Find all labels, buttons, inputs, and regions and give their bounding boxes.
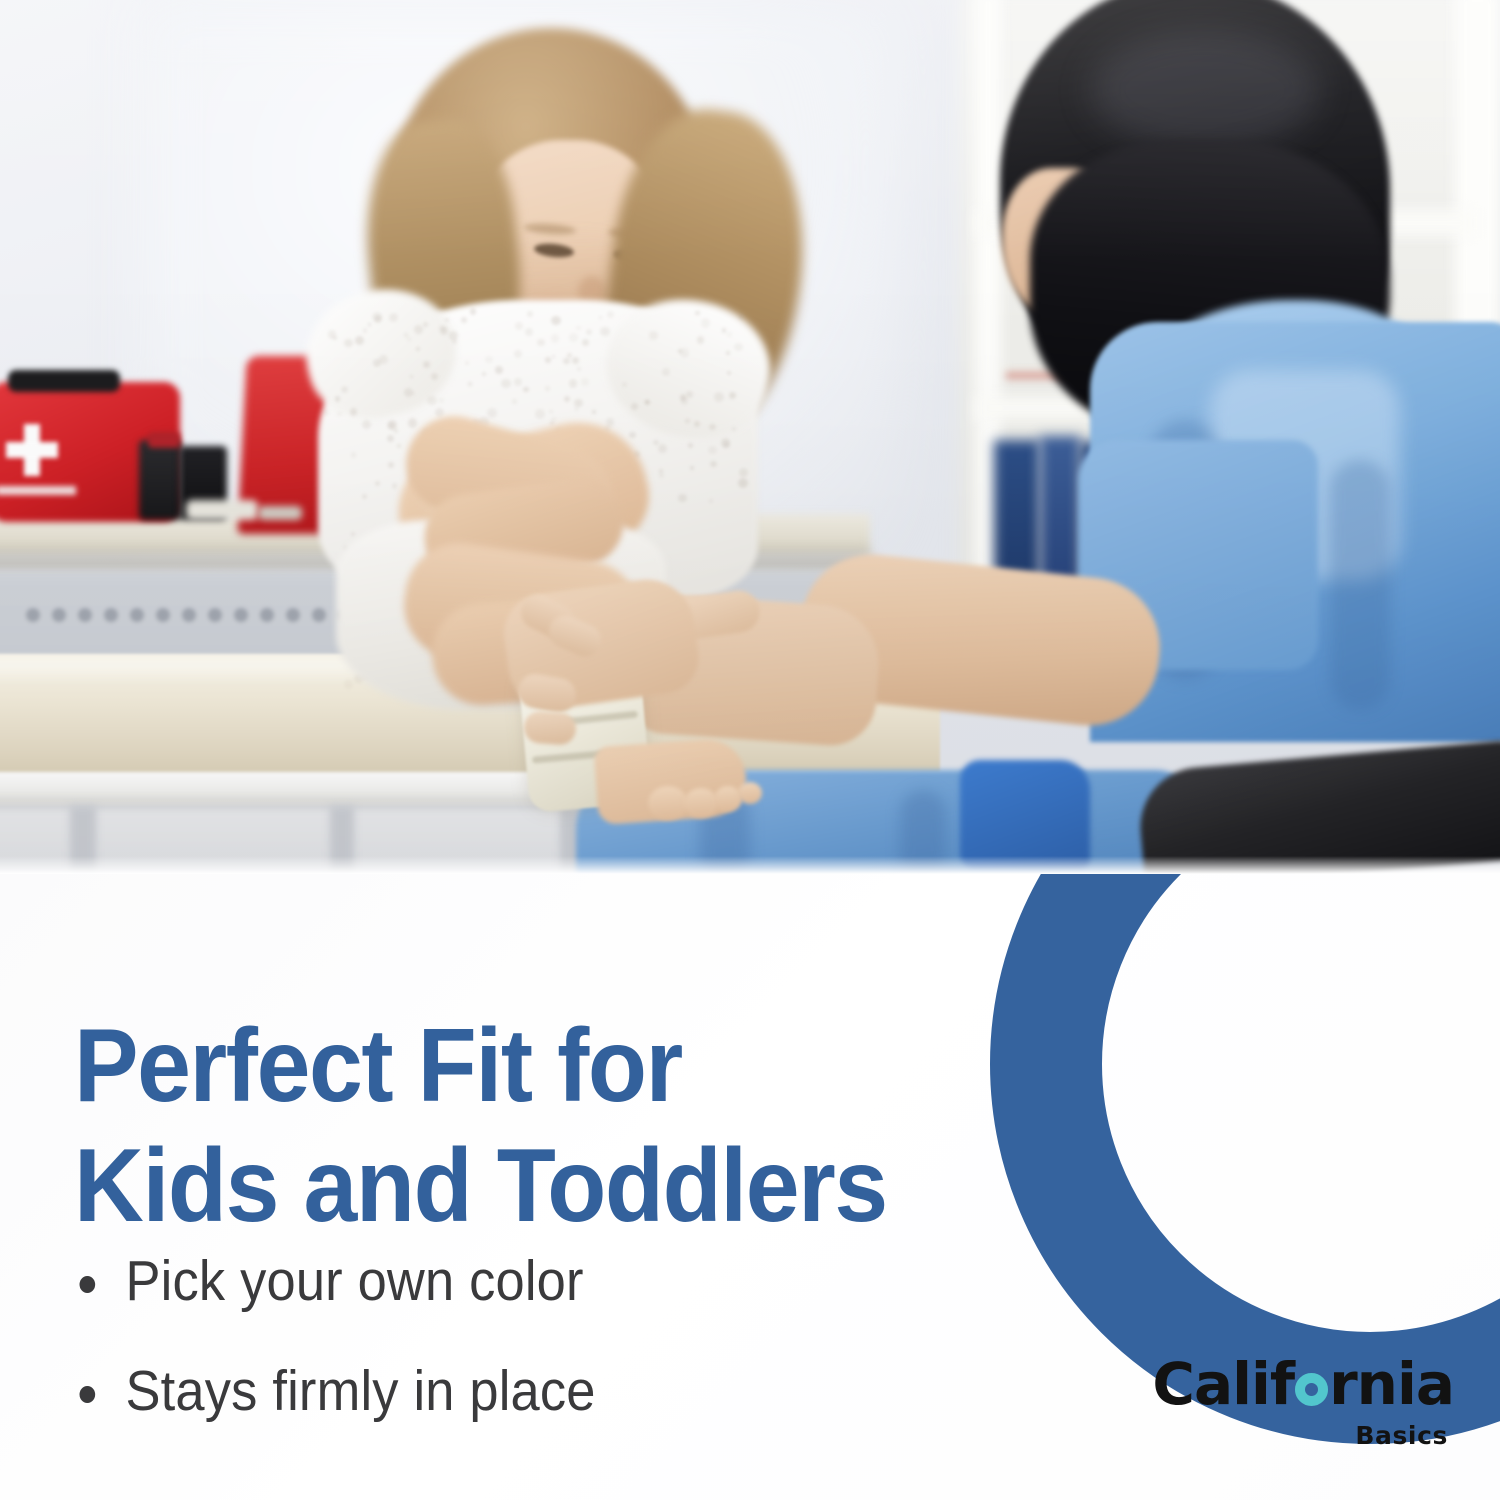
lifestyle-photo (0, 0, 1500, 874)
teal-o-icon (1295, 1373, 1328, 1406)
list-item: Pick your own color (74, 1250, 902, 1314)
brand-logo: Califrnia Basics (1152, 1355, 1454, 1448)
headline-line-2: Kids and Toddlers (74, 1126, 1069, 1247)
photo-color-grade (0, 0, 1500, 874)
marketing-copy-panel: Perfect Fit for Kids and Toddlers Pick y… (0, 874, 1500, 1500)
feature-bullet-list: Pick your own color Stays firmly in plac… (74, 1250, 974, 1470)
brand-name-part2: rnia (1329, 1350, 1454, 1418)
brand-name-part1: Calif (1152, 1350, 1294, 1418)
bullet-text: Stays firmly in place (126, 1359, 596, 1423)
headline-line-1: Perfect Fit for (74, 1008, 682, 1124)
product-marketing-image: Perfect Fit for Kids and Toddlers Pick y… (0, 0, 1500, 1500)
page-title: Perfect Fit for Kids and Toddlers (74, 1006, 1069, 1247)
brand-name: Califrnia (1152, 1355, 1454, 1413)
bullet-text: Pick your own color (126, 1249, 584, 1313)
list-item: Stays firmly in place (74, 1360, 902, 1424)
photo-bottom-fade (0, 856, 1500, 874)
brand-tagline: Basics (1152, 1423, 1454, 1448)
